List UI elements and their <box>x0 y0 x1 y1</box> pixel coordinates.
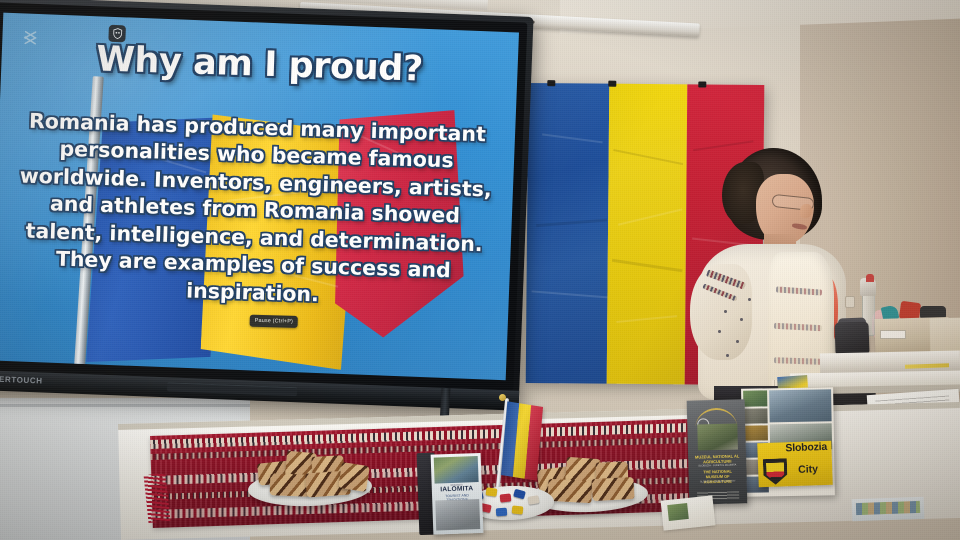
candy <box>512 505 524 514</box>
presentation-slide[interactable]: Why am I proud? Romania has produced man… <box>0 13 519 381</box>
museum-brochure: MUZEUL NATIONAL AL AGRICULTURII SLOBOZIA… <box>687 399 748 504</box>
slobozia-line1: Slobozia <box>785 441 827 454</box>
wall-socket <box>845 296 855 308</box>
cozonac-slice <box>547 479 592 503</box>
pause-tooltip[interactable]: Pause (Ctrl+P) <box>250 315 299 328</box>
candy <box>496 508 508 517</box>
classroom-presentation-photo: Why am I proud? Romania has produced man… <box>0 0 960 540</box>
cozonac-slice <box>591 477 634 501</box>
ialomita-brochure-stand: ROMANIA IALOMITA TOURIST AND TRADITIONS <box>417 451 486 537</box>
flyer-photo <box>667 503 689 521</box>
coat-of-arms-inner <box>766 462 785 483</box>
display-brand-label: CLEVERTOUCH <box>0 374 43 386</box>
slobozia-city-sign: Slobozia City <box>757 441 832 488</box>
brochure-sub-ro: SLOBOZIA - JUDETUL IALOMITA <box>694 463 740 467</box>
slide-body-text: Romania has produced many important pers… <box>11 107 498 313</box>
desk-flag-cloth <box>501 401 543 480</box>
nose <box>800 204 812 218</box>
cardboard-box-small <box>930 318 960 355</box>
candy <box>485 487 497 496</box>
romanian-desk-flag <box>496 392 542 500</box>
interactive-display[interactable]: Why am I proud? Romania has produced man… <box>0 0 542 421</box>
candy <box>500 493 512 502</box>
cozonac-slice <box>270 473 311 496</box>
box-label <box>880 330 906 339</box>
cozonac-slice <box>338 462 370 492</box>
ialomita-photo-lower <box>435 499 480 531</box>
slobozia-line2: City <box>798 463 818 476</box>
hole-punch <box>834 321 869 354</box>
flag-finial <box>499 394 506 401</box>
ialomita-photo <box>434 456 479 484</box>
brochure-photo <box>697 423 738 450</box>
flyer-photo-strip <box>856 501 920 515</box>
